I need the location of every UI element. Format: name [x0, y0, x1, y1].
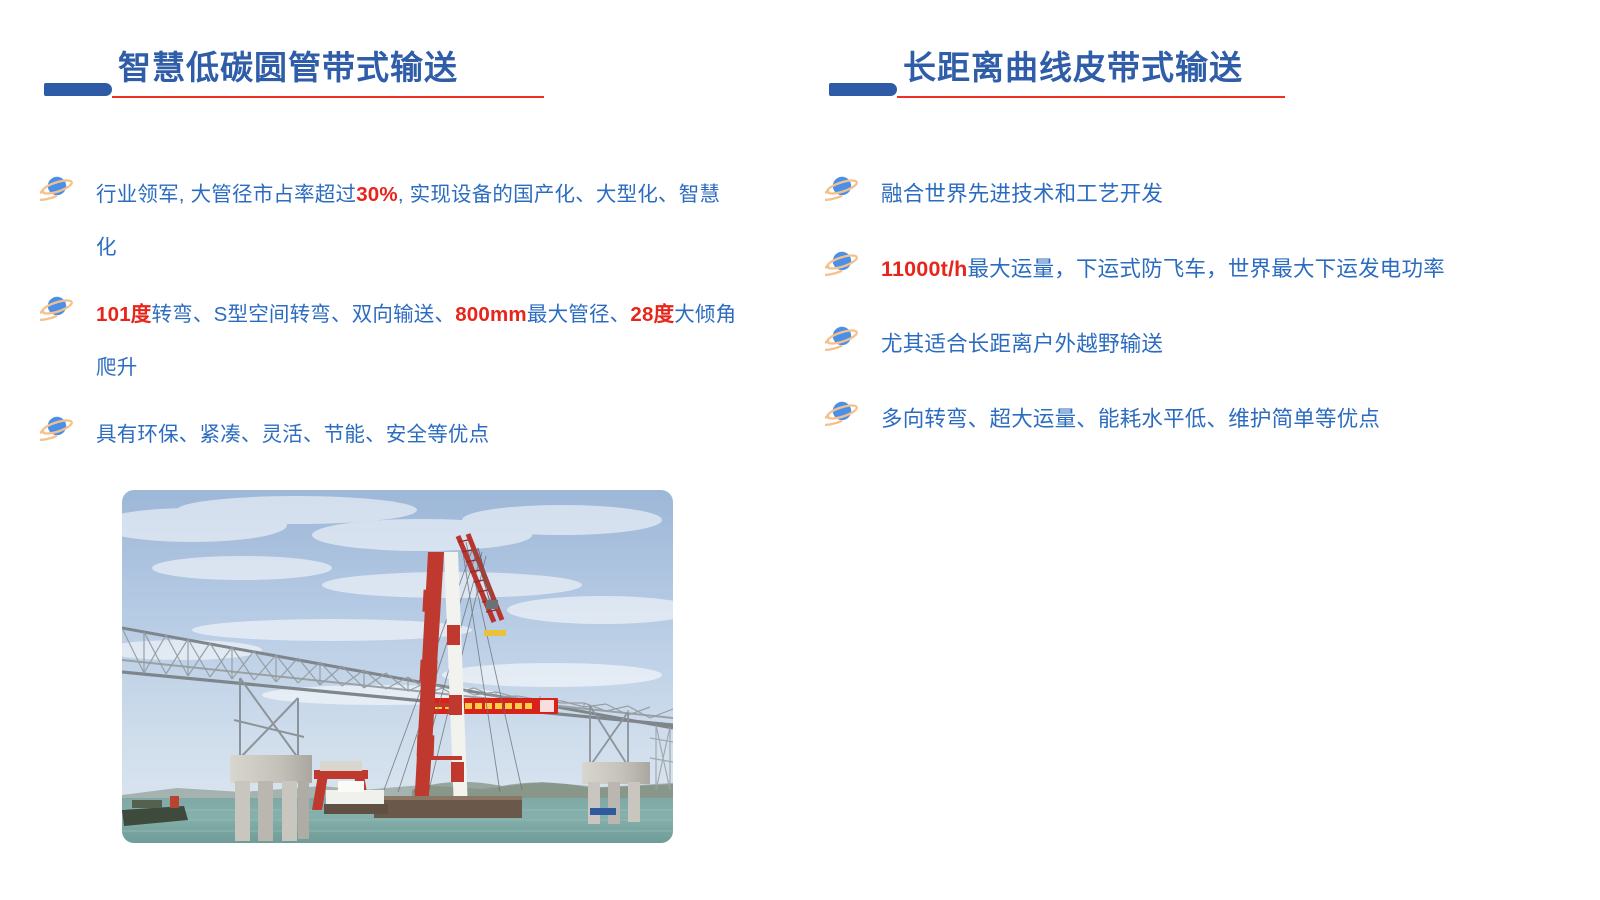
bullet-text: 行业领军, 大管径市占率超过30%, 实现设备的国产化、大型化、智慧化	[96, 168, 740, 274]
section-title-left: 智慧低碳圆管带式输送	[40, 45, 740, 105]
bullet-text: 尤其适合长距离户外越野输送	[881, 318, 1545, 371]
list-item: 101度转弯、S型空间转弯、双向输送、800mm最大管径、28度大倾角爬升	[40, 288, 740, 394]
column-right: 长距离曲线皮带式输送 融合世界先进技术和工艺开发	[825, 0, 1545, 900]
planet-icon	[825, 397, 859, 433]
list-item: 融合世界先进技术和工艺开发	[825, 168, 1545, 221]
section-title-right: 长距离曲线皮带式输送	[825, 45, 1545, 105]
bullet-text: 具有环保、紧凑、灵活、节能、安全等优点	[96, 408, 740, 461]
section-title-text-left: 智慧低碳圆管带式输送	[118, 45, 458, 91]
bullet-text: 101度转弯、S型空间转弯、双向输送、800mm最大管径、28度大倾角爬升	[96, 288, 740, 394]
bullet-list-right: 融合世界先进技术和工艺开发 11000t/h最大运量，下运式防飞车，世界最大下运…	[825, 168, 1545, 468]
bullet-text: 多向转弯、超大运量、能耗水平低、维护简单等优点	[881, 393, 1545, 446]
pipe-conveyor-sea-bridge-photo	[122, 490, 673, 843]
column-left: 智慧低碳圆管带式输送 行业领军, 大管径市占率超过30%, 实现设备的国产化、大…	[40, 0, 740, 900]
planet-icon	[40, 172, 74, 208]
list-item: 11000t/h最大运量，下运式防飞车，世界最大下运发电功率	[825, 243, 1545, 296]
planet-icon	[825, 247, 859, 283]
planet-icon	[825, 172, 859, 208]
title-accent-bar-right	[829, 83, 897, 96]
bullet-text: 11000t/h最大运量，下运式防飞车，世界最大下运发电功率	[881, 243, 1545, 296]
slide-root: 智慧低碳圆管带式输送 行业领军, 大管径市占率超过30%, 实现设备的国产化、大…	[0, 0, 1600, 900]
list-item: 具有环保、紧凑、灵活、节能、安全等优点	[40, 408, 740, 461]
title-underline-right	[897, 96, 1285, 98]
list-item: 尤其适合长距离户外越野输送	[825, 318, 1545, 371]
planet-icon	[40, 412, 74, 448]
section-title-text-right: 长距离曲线皮带式输送	[903, 45, 1243, 91]
list-item: 多向转弯、超大运量、能耗水平低、维护简单等优点	[825, 393, 1545, 446]
list-item: 行业领军, 大管径市占率超过30%, 实现设备的国产化、大型化、智慧化	[40, 168, 740, 274]
planet-icon	[40, 292, 74, 328]
title-accent-bar-left	[44, 83, 112, 96]
bullet-text: 融合世界先进技术和工艺开发	[881, 168, 1545, 221]
planet-icon	[825, 322, 859, 358]
title-underline-left	[112, 96, 544, 98]
bullet-list-left: 行业领军, 大管径市占率超过30%, 实现设备的国产化、大型化、智慧化 101度…	[40, 168, 740, 475]
